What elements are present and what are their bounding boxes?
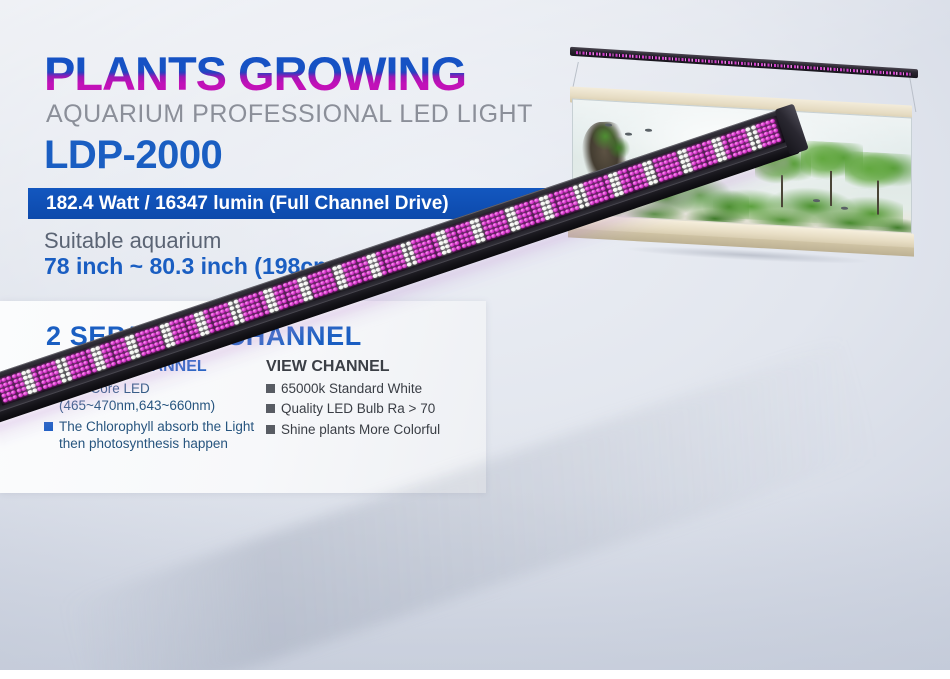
fish <box>605 123 612 126</box>
led-white <box>435 231 441 237</box>
led-magenta <box>320 280 326 286</box>
led-magenta <box>313 293 319 299</box>
led-magenta <box>492 222 498 228</box>
led-column <box>430 233 442 257</box>
led-magenta <box>459 238 465 244</box>
aquarium-led-bar <box>570 47 918 78</box>
led-magenta <box>395 244 401 250</box>
led-magenta <box>415 238 421 244</box>
led-magenta <box>454 240 460 246</box>
page-subtitle: AQUARIUM PROFESSIONAL LED LIGHT <box>46 100 533 129</box>
led-column <box>474 218 486 242</box>
led-magenta <box>456 229 462 235</box>
led-column <box>469 219 481 243</box>
led-white <box>407 246 413 252</box>
led-magenta <box>272 286 278 292</box>
led-magenta <box>525 221 531 227</box>
led-magenta <box>328 288 334 294</box>
led-magenta <box>292 295 298 301</box>
led-magenta <box>448 237 454 243</box>
led-magenta <box>431 253 437 259</box>
led-magenta <box>486 219 492 225</box>
led-magenta <box>318 291 324 297</box>
growing-channel-column: GROWING CHANNEL Dual Core LED (465~470nm… <box>44 358 259 452</box>
led-magenta <box>458 234 464 240</box>
led-column <box>425 234 437 258</box>
led-magenta <box>505 228 511 234</box>
led-magenta <box>422 241 428 247</box>
spec-banner: 182.4 Watt / 16347 lumin (Full Channel D… <box>28 188 555 219</box>
led-white <box>342 283 348 289</box>
led-magenta <box>295 288 301 294</box>
led-white <box>476 222 482 228</box>
led-column <box>459 223 471 247</box>
suitable-range: 78 inch ~ 80.3 inch (198cm~204cm) <box>44 253 426 280</box>
led-white <box>305 285 311 291</box>
led-magenta <box>466 241 472 247</box>
led-white <box>475 238 481 244</box>
led-magenta <box>284 287 290 293</box>
led-white <box>337 284 343 290</box>
bullet-square-icon <box>44 422 53 431</box>
led-magenta <box>467 230 473 236</box>
led-magenta <box>423 245 429 251</box>
led-column <box>297 278 309 302</box>
led-white <box>479 232 485 238</box>
led-white <box>515 225 521 231</box>
led-white <box>444 243 450 249</box>
bottom-strip <box>0 670 950 679</box>
led-white <box>510 226 516 232</box>
led-magenta <box>469 235 475 241</box>
model-number: LDP-2000 <box>44 133 222 178</box>
led-magenta <box>420 236 426 242</box>
led-magenta <box>454 224 460 230</box>
led-white <box>439 245 445 251</box>
led-column <box>440 229 452 253</box>
led-column <box>479 216 491 240</box>
led-white <box>298 282 304 288</box>
bullet-square-icon <box>266 425 275 434</box>
led-white <box>262 289 268 295</box>
led-white <box>438 240 444 246</box>
led-magenta <box>257 291 263 297</box>
led-magenta <box>247 294 253 300</box>
led-magenta <box>288 285 294 291</box>
suitable-label: Suitable aquarium <box>44 228 221 254</box>
led-magenta <box>274 290 280 296</box>
led-column <box>292 279 304 303</box>
led-magenta <box>464 221 470 227</box>
list-item-label: Dual Core LED <box>59 380 150 397</box>
led-magenta <box>499 225 505 231</box>
led-magenta <box>490 233 496 239</box>
led-white <box>513 220 519 226</box>
led-white <box>446 248 452 254</box>
led-magenta <box>463 232 469 238</box>
led-column <box>445 228 457 252</box>
led-magenta <box>287 281 293 287</box>
led-magenta <box>459 223 465 229</box>
led-magenta <box>418 247 424 253</box>
fish <box>813 199 820 202</box>
led-magenta <box>277 284 283 290</box>
led-magenta <box>466 226 472 232</box>
led-magenta <box>497 220 503 226</box>
led-magenta <box>426 239 432 245</box>
led-magenta <box>451 231 457 237</box>
led-white <box>440 229 446 235</box>
led-magenta <box>500 230 506 236</box>
bullet-square-icon <box>266 384 275 393</box>
led-magenta <box>293 284 299 290</box>
led-magenta <box>285 292 291 298</box>
led-magenta <box>333 286 339 292</box>
led-magenta <box>390 246 396 252</box>
led-magenta <box>315 282 321 288</box>
list-item: 65000k Standard White <box>266 380 481 397</box>
led-column <box>450 226 462 250</box>
led-white <box>308 294 314 300</box>
led-white <box>480 236 486 242</box>
led-white <box>469 219 475 225</box>
led-magenta <box>445 228 451 234</box>
led-magenta <box>292 279 298 285</box>
led-white <box>443 239 449 245</box>
led-magenta <box>520 223 526 229</box>
led-white <box>474 233 480 239</box>
led-magenta <box>297 293 303 299</box>
led-white <box>267 287 273 293</box>
led-magenta <box>430 233 436 239</box>
led-magenta <box>446 232 452 238</box>
led-magenta <box>282 282 288 288</box>
led-magenta <box>461 227 467 233</box>
led-magenta <box>430 248 436 254</box>
list-item: Shine plants More Colorful <box>266 421 481 438</box>
bullet-square-icon <box>44 384 53 393</box>
led-white <box>472 229 478 235</box>
led-magenta <box>461 243 467 249</box>
led-white <box>336 280 342 286</box>
fish <box>645 129 652 132</box>
led-white <box>269 292 275 298</box>
list-item-label: Shine plants More Colorful <box>281 421 440 438</box>
view-channel-heading: VIEW CHANNEL <box>266 358 481 376</box>
led-magenta <box>311 288 317 294</box>
led-white <box>441 250 447 256</box>
growing-channel-heading: GROWING CHANNEL <box>44 358 259 376</box>
led-white <box>441 234 447 240</box>
led-magenta <box>489 228 495 234</box>
led-magenta <box>433 242 439 248</box>
led-magenta <box>428 244 434 250</box>
list-item: The Chlorophyll absorb the Light <box>44 418 259 435</box>
led-magenta <box>290 290 296 296</box>
led-magenta <box>275 295 281 301</box>
led-magenta <box>502 219 508 225</box>
led-magenta <box>323 289 329 295</box>
led-column <box>454 224 466 248</box>
list-item-label: The Chlorophyll absorb the Light <box>59 418 254 435</box>
led-white <box>300 287 306 293</box>
led-magenta <box>417 242 423 248</box>
led-magenta <box>495 231 501 237</box>
led-magenta <box>449 242 455 248</box>
led-magenta <box>412 244 418 250</box>
led-magenta <box>280 293 286 299</box>
led-magenta <box>494 227 500 233</box>
led-magenta <box>425 234 431 240</box>
led-magenta <box>503 223 509 229</box>
led-magenta <box>484 230 490 236</box>
led-magenta <box>310 283 316 289</box>
led-column <box>464 221 476 245</box>
list-item-subtext: (465~470nm,643~660nm) <box>59 397 259 414</box>
led-white <box>508 222 514 228</box>
led-white <box>306 290 312 296</box>
led-magenta <box>453 235 459 241</box>
led-white <box>405 241 411 247</box>
aquatic-tree <box>845 151 912 217</box>
fish <box>841 207 848 210</box>
led-magenta <box>426 255 432 261</box>
led-magenta <box>485 235 491 241</box>
led-white <box>436 236 442 242</box>
led-magenta <box>316 286 322 292</box>
led-magenta <box>352 279 358 285</box>
fish <box>625 132 632 135</box>
led-white <box>477 227 483 233</box>
view-channel-column: VIEW CHANNEL 65000k Standard White Quali… <box>266 358 481 438</box>
led-magenta <box>326 283 332 289</box>
led-column <box>435 231 447 255</box>
channel-panel-title: 2 SEPARATE CHANNEL <box>46 321 362 352</box>
led-magenta <box>471 240 477 246</box>
led-white <box>471 224 477 230</box>
led-magenta <box>450 226 456 232</box>
list-item-subtext: then photosynthesis happen <box>59 435 259 452</box>
led-magenta <box>481 221 487 227</box>
product-banner: PLANTS GROWING AQUARIUM PROFESSIONAL LED… <box>0 0 950 679</box>
led-magenta <box>530 220 536 226</box>
led-bar-diodes <box>576 51 912 76</box>
list-item-label: Quality LED Bulb Ra > 70 <box>281 400 435 417</box>
page-title: PLANTS GROWING <box>44 50 466 97</box>
led-magenta <box>431 237 437 243</box>
spec-banner-text: 182.4 Watt / 16347 lumin (Full Channel D… <box>28 193 449 215</box>
led-magenta <box>252 292 258 298</box>
list-item: Quality LED Bulb Ra > 70 <box>266 400 481 417</box>
led-white <box>301 291 307 297</box>
led-magenta <box>456 245 462 251</box>
led-magenta <box>410 239 416 245</box>
led-magenta <box>518 218 524 224</box>
led-magenta <box>464 237 470 243</box>
led-magenta <box>436 251 442 257</box>
led-white <box>400 243 406 249</box>
led-magenta <box>482 225 488 231</box>
led-magenta <box>434 247 440 253</box>
led-magenta <box>331 281 337 287</box>
led-white <box>303 280 309 286</box>
bullet-square-icon <box>266 404 275 413</box>
aquarium-photo <box>552 48 924 256</box>
led-magenta <box>487 224 493 230</box>
led-magenta <box>321 285 327 291</box>
led-magenta <box>451 246 457 252</box>
led-white <box>264 294 270 300</box>
list-item-label: 65000k Standard White <box>281 380 422 397</box>
led-magenta <box>347 281 353 287</box>
led-magenta <box>279 289 285 295</box>
list-item: Dual Core LED <box>44 380 259 397</box>
